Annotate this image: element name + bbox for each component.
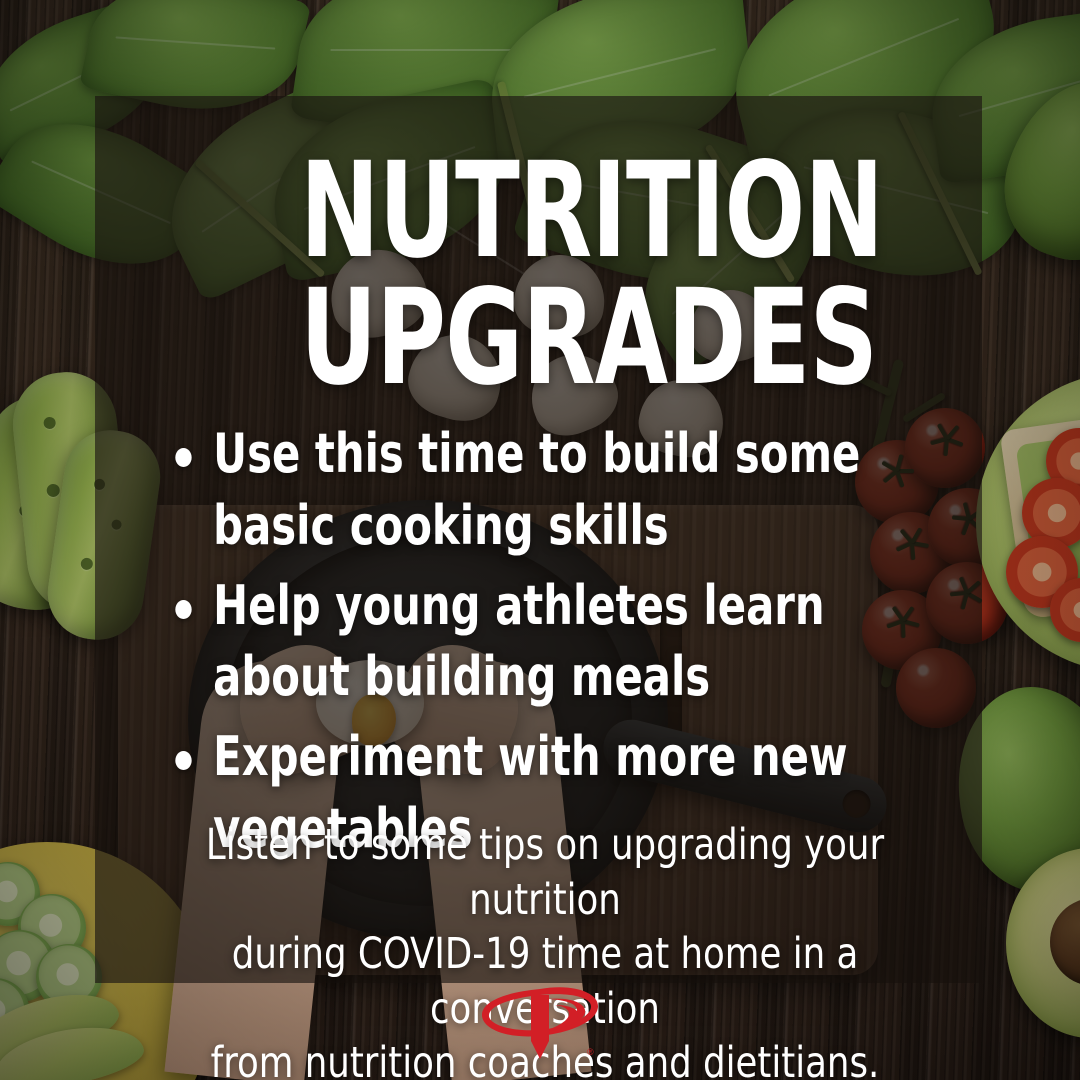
list-item: Use this time to build some basic cookin… (165, 418, 862, 562)
card-content: NUTRITION UPGRADES Use this time to buil… (0, 0, 1080, 1080)
page-title: NUTRITION UPGRADES (300, 148, 908, 401)
list-item: Help young athletes learn about building… (165, 570, 862, 714)
bullet-list: Use this time to build some basic cookin… (165, 418, 975, 873)
red-swoosh-logo: ® (479, 981, 601, 1063)
logo-trademark: ® (587, 1047, 594, 1057)
nutrition-upgrades-graphic: NUTRITION UPGRADES Use this time to buil… (0, 0, 1080, 1080)
